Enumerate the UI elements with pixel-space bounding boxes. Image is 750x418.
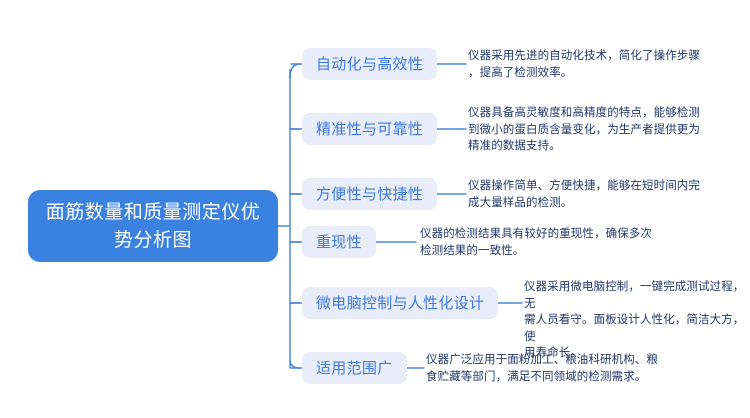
- branch-node-microcomputer-control[interactable]: 微电脑控制与人性化设计: [302, 287, 498, 319]
- branch-label: 适用范围广: [316, 358, 393, 378]
- branch-description-accuracy: 仪器具备高灵敏度和高精度的特点，能够检测 到微小的蛋白质含量变化，为生产者提供更…: [468, 104, 718, 154]
- branch-description-reproducibility: 仪器的检测结果具有较好的重现性，确保多次 检测结果的一致性。: [420, 225, 670, 258]
- mindmap-canvas: 面筋数量和质量测定仪优 势分析图 自动化与高效性 仪器采用先进的自动化技术，简化…: [0, 0, 750, 418]
- branch-label: 精准性与可靠性: [316, 119, 423, 139]
- branch-description-convenience: 仪器操作简单、方便快捷，能够在短时间内完 成大量样品的检测。: [468, 177, 718, 210]
- branch-label: 微电脑控制与人性化设计: [316, 293, 484, 313]
- root-node[interactable]: 面筋数量和质量测定仪优 势分析图: [28, 190, 278, 262]
- branch-node-convenience[interactable]: 方便性与快捷性: [302, 178, 437, 210]
- branch-node-accuracy[interactable]: 精准性与可靠性: [302, 113, 437, 145]
- branch-label: 重现性: [316, 232, 362, 252]
- branch-description-microcomputer-control: 仪器采用微电脑控制，一键完成测试过程，无 需人员看守。面板设计人性化，简洁大方，…: [524, 278, 746, 361]
- branch-node-automation[interactable]: 自动化与高效性: [302, 48, 437, 80]
- branch-label: 方便性与快捷性: [316, 184, 423, 204]
- branch-label: 自动化与高效性: [316, 54, 423, 74]
- branch-node-application-range[interactable]: 适用范围广: [302, 352, 407, 384]
- branch-description-application-range: 仪器广泛应用于面粉加工、粮油科研机构、粮 食贮藏等部门，满足不同领域的检测需求。: [426, 351, 676, 384]
- branch-description-automation: 仪器采用先进的自动化技术，简化了操作步骤 ，提高了检测效率。: [468, 47, 718, 80]
- branch-node-reproducibility[interactable]: 重现性: [302, 226, 376, 258]
- root-node-label: 面筋数量和质量测定仪优 势分析图: [46, 198, 261, 254]
